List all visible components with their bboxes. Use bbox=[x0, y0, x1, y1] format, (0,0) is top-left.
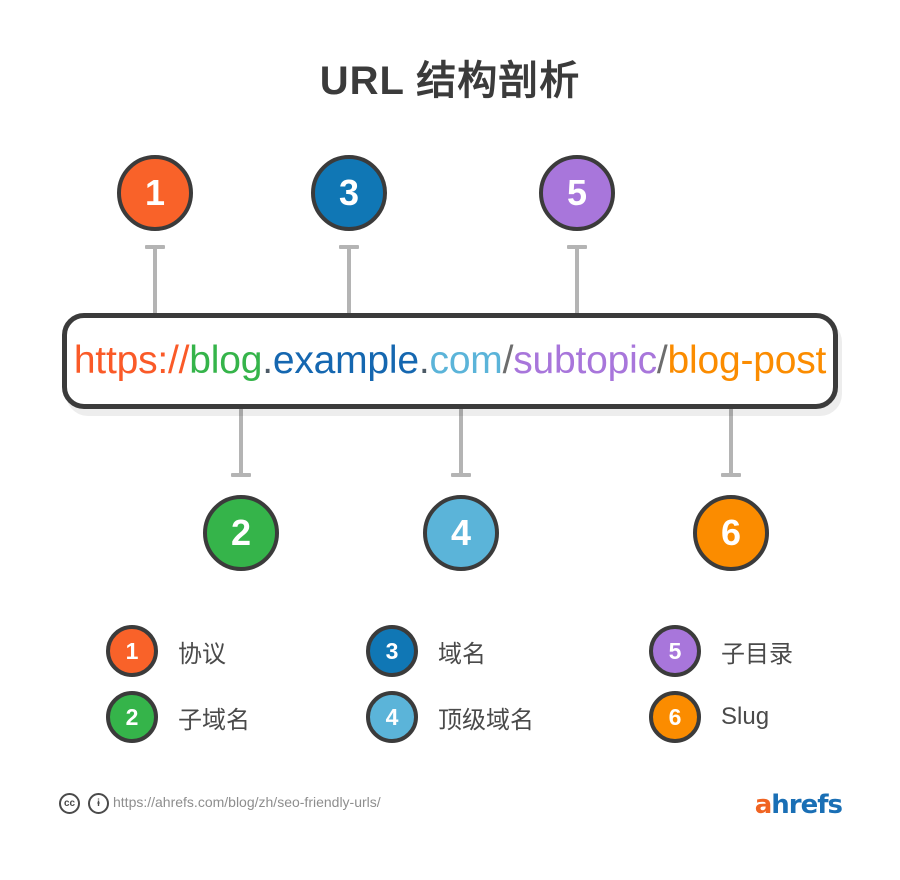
legend-bubble-4: 4 bbox=[366, 691, 418, 743]
legend-label-6: Slug bbox=[721, 703, 769, 731]
legend-item-4[interactable]: 4顶级域名 bbox=[366, 684, 534, 750]
cc-attribution-icon[interactable]: ɨ bbox=[88, 793, 109, 814]
page-title: URL 结构剖析 bbox=[0, 48, 900, 106]
url-segment-subdirectory: subtopic bbox=[513, 339, 657, 382]
url-segment-tld: com bbox=[430, 339, 503, 382]
marker-bubble-5[interactable]: 5 bbox=[539, 155, 615, 231]
url-text: https://blog.example.com/subtopic/blog-p… bbox=[74, 339, 826, 383]
url-segment-protocol: https:// bbox=[74, 339, 189, 382]
source-url[interactable]: https://ahrefs.com/blog/zh/seo-friendly-… bbox=[113, 794, 381, 810]
legend-column: 1协议2子域名 bbox=[106, 618, 250, 750]
ahrefs-logo: ahrefs bbox=[755, 790, 842, 820]
legend-item-1[interactable]: 1协议 bbox=[106, 618, 250, 684]
marker-bubble-3[interactable]: 3 bbox=[311, 155, 387, 231]
legend-item-3[interactable]: 3域名 bbox=[366, 618, 534, 684]
legend: 1协议2子域名3域名4顶级域名5子目录6Slug bbox=[0, 618, 900, 750]
marker-bubble-1[interactable]: 1 bbox=[117, 155, 193, 231]
url-segment-slug: blog-post bbox=[668, 339, 827, 382]
url-segment-subdomain: blog bbox=[189, 339, 262, 382]
marker-bubble-2[interactable]: 2 bbox=[203, 495, 279, 571]
legend-bubble-6: 6 bbox=[649, 691, 701, 743]
url-segment-domain: example bbox=[273, 339, 419, 382]
legend-bubble-2: 2 bbox=[106, 691, 158, 743]
creative-commons-icon[interactable]: cc bbox=[59, 793, 80, 814]
legend-item-5[interactable]: 5子目录 bbox=[649, 618, 793, 684]
legend-bubble-5: 5 bbox=[649, 625, 701, 677]
license-icons: ccɨ bbox=[59, 793, 109, 814]
legend-column: 5子目录6Slug bbox=[649, 618, 793, 750]
marker-bubble-4[interactable]: 4 bbox=[423, 495, 499, 571]
url-separator-dot-1: . bbox=[262, 339, 273, 382]
legend-item-2[interactable]: 2子域名 bbox=[106, 684, 250, 750]
legend-label-1: 协议 bbox=[178, 634, 226, 669]
url-separator-slash-1: / bbox=[503, 339, 514, 382]
legend-label-2: 子域名 bbox=[178, 700, 250, 735]
url-display-box[interactable]: https://blog.example.com/subtopic/blog-p… bbox=[62, 313, 838, 409]
legend-label-3: 域名 bbox=[438, 634, 486, 669]
ahrefs-logo-a: a bbox=[755, 790, 772, 820]
footer: ccɨ https://ahrefs.com/blog/zh/seo-frien… bbox=[0, 793, 900, 833]
ahrefs-logo-hrefs: hrefs bbox=[771, 790, 842, 820]
legend-bubble-1: 1 bbox=[106, 625, 158, 677]
legend-column: 3域名4顶级域名 bbox=[366, 618, 534, 750]
url-separator-dot-2: . bbox=[419, 339, 430, 382]
url-separator-slash-2: / bbox=[657, 339, 668, 382]
legend-label-5: 子目录 bbox=[721, 634, 793, 669]
legend-item-6[interactable]: 6Slug bbox=[649, 684, 793, 750]
legend-bubble-3: 3 bbox=[366, 625, 418, 677]
legend-label-4: 顶级域名 bbox=[438, 700, 534, 735]
marker-bubble-6[interactable]: 6 bbox=[693, 495, 769, 571]
